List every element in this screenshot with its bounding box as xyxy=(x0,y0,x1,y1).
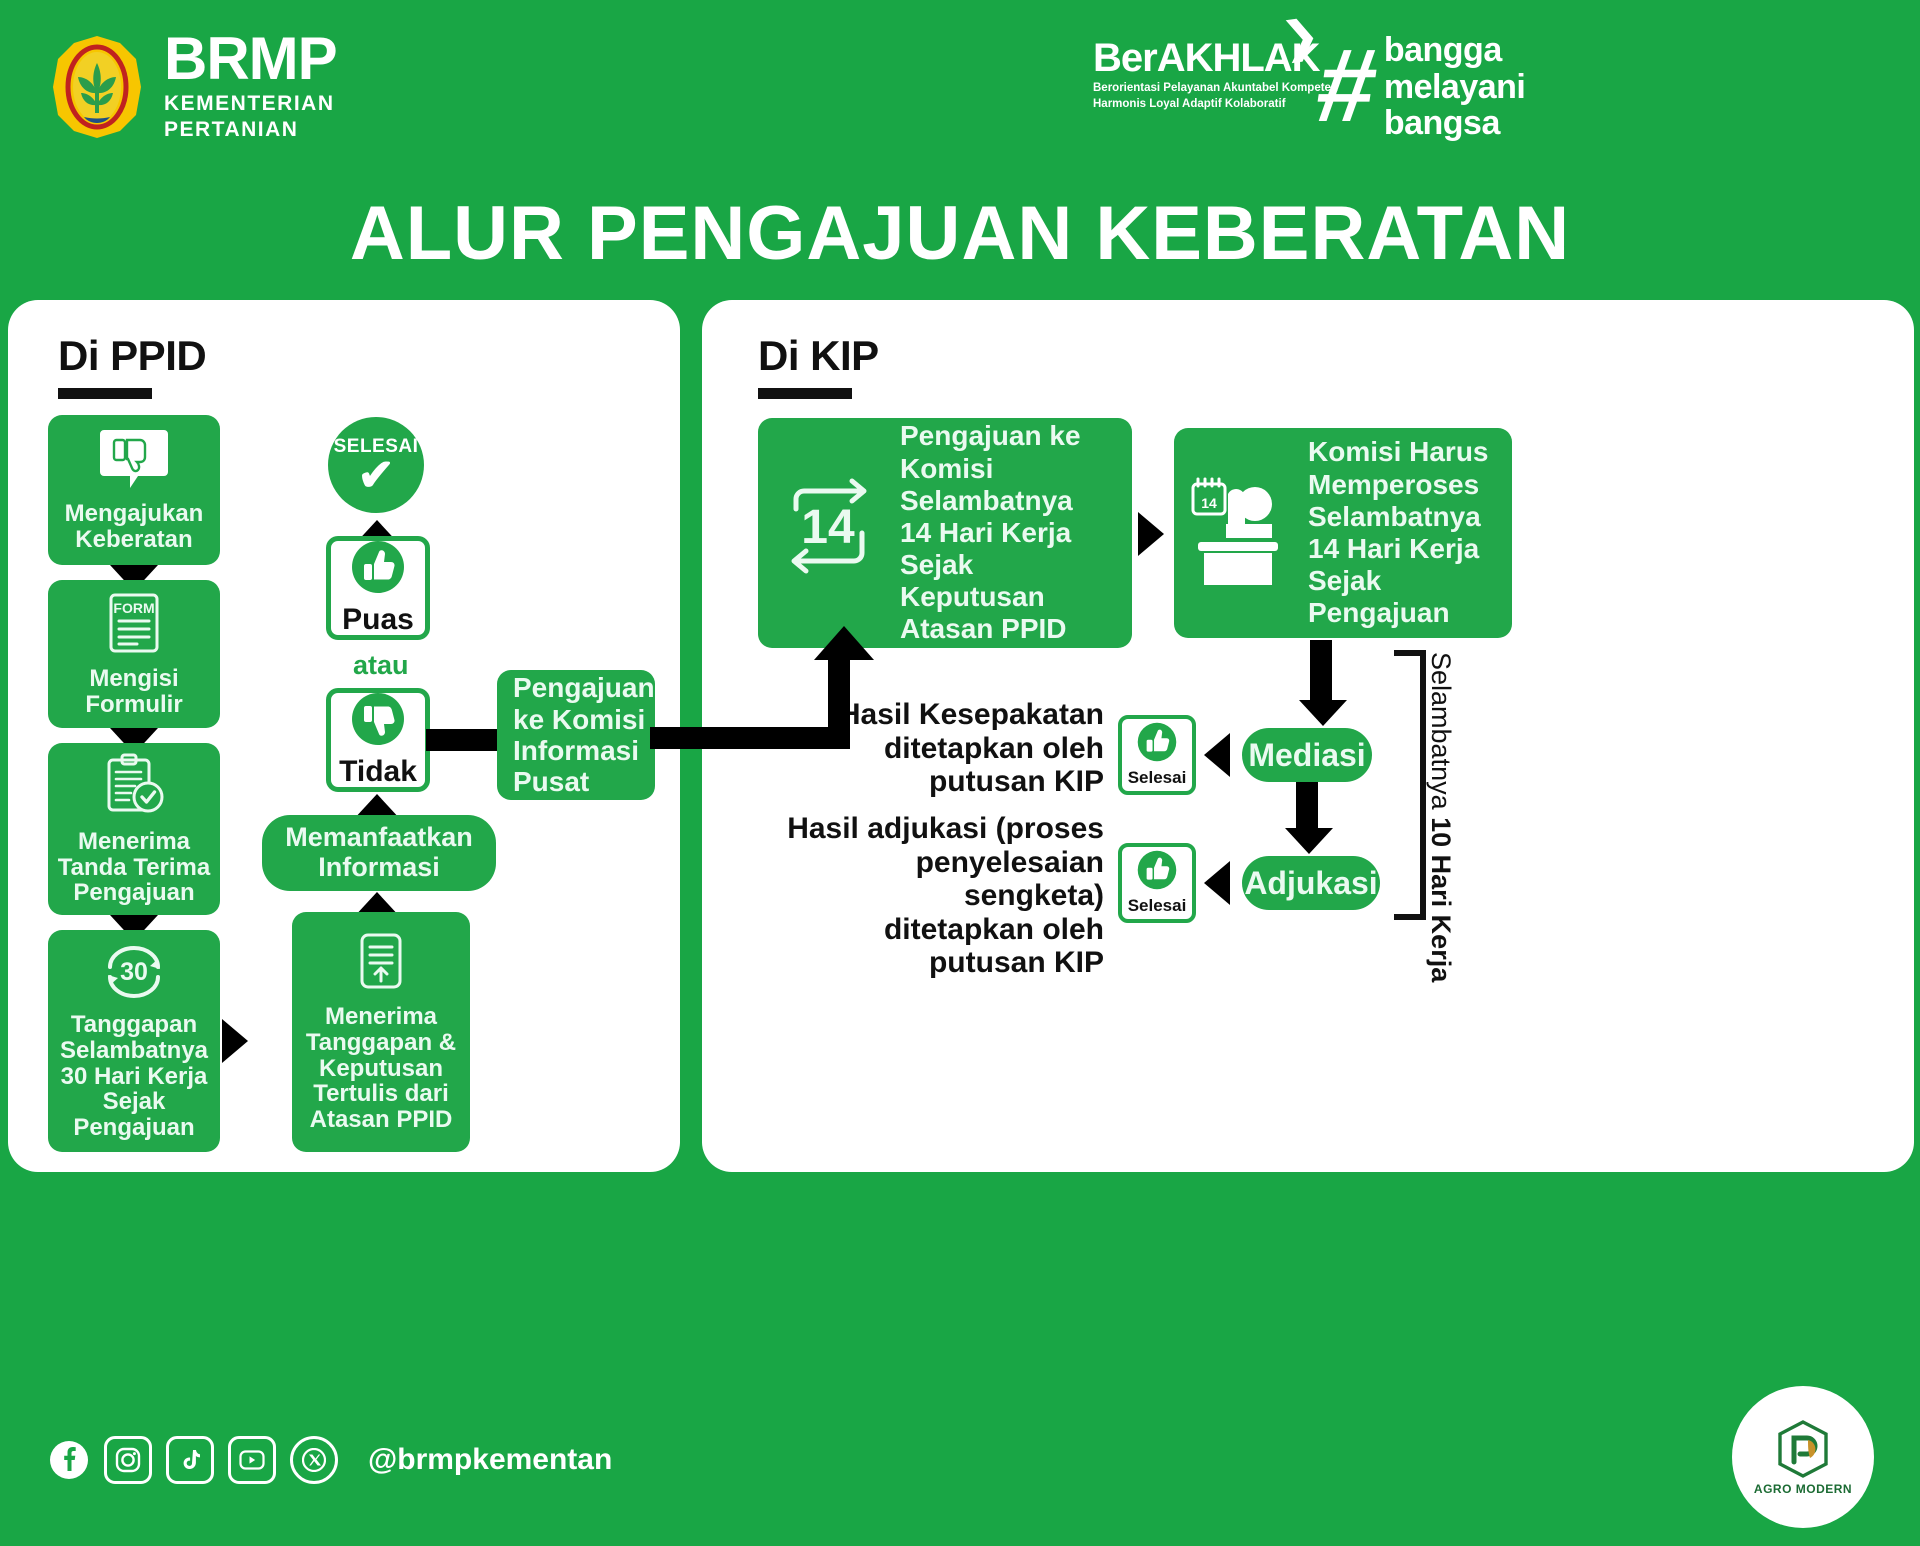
facebook-icon[interactable] xyxy=(48,1439,90,1481)
arrow-down-icon xyxy=(1285,828,1333,854)
bangga-line3: bangsa xyxy=(1384,105,1526,142)
ppid-memanfaatkan-label: MemanfaatkanInformasi xyxy=(285,823,473,882)
instagram-icon[interactable] xyxy=(104,1436,152,1484)
ppid-step-2-label: MengisiFormulir xyxy=(85,666,182,718)
kip-selesai-chip-1-label: Selesai xyxy=(1128,768,1187,788)
kip-box-pengajuan-label: Pengajuan keKomisiSelambatnya14 Hari Ker… xyxy=(900,420,1081,645)
tiktok-icon[interactable] xyxy=(166,1436,214,1484)
agro-modern-label: AGRO MODERN xyxy=(1754,1482,1852,1496)
agro-modern-logo: AGRO MODERN xyxy=(1732,1386,1874,1528)
footer: @brmpkementan AGRO MODERN xyxy=(0,1361,1920,1546)
chevron-right-icon: ❯ xyxy=(1280,14,1320,60)
arrow-right-icon xyxy=(222,1019,248,1063)
thumbs-up-icon xyxy=(1137,722,1177,767)
kip-selesai-chip-mediasi[interactable]: Selesai xyxy=(1118,715,1196,795)
kip-hasil-kesepakatan-text: Hasil Kesepakatanditetapkan olehputusan … xyxy=(812,698,1104,799)
infographic-page: BRMP KEMENTERIAN PERTANIAN BerAKHLAK ❯ B… xyxy=(0,0,1920,1546)
kip-hasil-adjukasi-text: Hasil adjukasi (prosespenyelesaian sengk… xyxy=(772,812,1104,980)
kip-heading: Di KIP xyxy=(758,332,879,399)
kip-selesai-chip-adjukasi[interactable]: Selesai xyxy=(1118,843,1196,923)
connector-komisi-to-mediasi xyxy=(1310,640,1332,702)
svg-text:FORM: FORM xyxy=(113,600,154,616)
svg-text:30: 30 xyxy=(120,958,148,986)
berakhlak-logo: BerAKHLAK ❯ Berorientasi Pelayanan Akunt… xyxy=(1093,38,1303,112)
ppid-step-menerima-tanda-terima[interactable]: MenerimaTanda TerimaPengajuan xyxy=(48,743,220,915)
ppid-heading-text: Di PPID xyxy=(58,332,206,379)
brmp-logo: BRMP KEMENTERIAN PERTANIAN xyxy=(48,30,337,144)
thumbs-down-speech-bubble-icon xyxy=(98,428,170,495)
form-document-icon: FORM xyxy=(105,591,163,660)
arrow-left-icon xyxy=(1204,733,1230,777)
header: BRMP KEMENTERIAN PERTANIAN BerAKHLAK ❯ B… xyxy=(0,0,1920,185)
elbow-arrow-vertical xyxy=(828,650,850,749)
ppid-step-3-label: MenerimaTanda TerimaPengajuan xyxy=(58,829,210,907)
kip-bracket-line2: 10 Hari Kerja xyxy=(1426,817,1456,982)
bangga-melayani-bangsa-logo: # bangga melayani bangsa xyxy=(1318,32,1525,142)
brmp-subtitle: KEMENTERIAN PERTANIAN xyxy=(164,91,337,144)
clipboard-check-icon xyxy=(101,752,167,823)
ppid-selesai-circle: SELESAI ✔ xyxy=(328,417,424,513)
ppid-step-1-label: MengajukanKeberatan xyxy=(65,501,204,553)
elbow-arrow-horizontal xyxy=(650,727,850,749)
kip-adjukasi-pill[interactable]: Adjukasi xyxy=(1242,856,1380,910)
30-day-cycle-icon: 30 xyxy=(99,941,169,1008)
kip-bracket-line1: Selambatnya xyxy=(1426,652,1456,810)
kip-box-pengajuan-14-hari[interactable]: 14 Pengajuan keKomisiSelambatnya14 Hari … xyxy=(758,418,1132,648)
ppid-step-tanggapan-30-hari[interactable]: 30 TanggapanSelambatnya30 Hari KerjaSeja… xyxy=(48,930,220,1152)
bangga-line1: bangga xyxy=(1384,32,1526,69)
elbow-arrow-head-icon xyxy=(814,626,874,660)
ppid-memanfaatkan-informasi[interactable]: MemanfaatkanInformasi xyxy=(262,815,496,891)
kip-duration-bracket xyxy=(1394,650,1426,920)
kip-box-komisi-label: Komisi HarusMemperosesSelambatnya14 Hari… xyxy=(1308,436,1489,629)
person-raising-hand-calendar-icon: 14 xyxy=(1188,466,1298,601)
thumbs-up-icon xyxy=(1137,850,1177,895)
heading-underline xyxy=(758,388,852,399)
connector-mediasi-to-adjukasi xyxy=(1296,782,1318,830)
page-title: ALUR PENGAJUAN KEBERATAN xyxy=(0,190,1920,277)
hashtag-icon: # xyxy=(1312,45,1376,128)
kip-box-komisi-memperoses[interactable]: 14 Komisi HarusMemperosesSelambatnya14 H… xyxy=(1174,428,1512,638)
ppid-option-puas[interactable]: Puas xyxy=(326,536,430,640)
heading-underline xyxy=(58,388,152,399)
social-handle: @brmpkementan xyxy=(368,1443,612,1477)
ppid-atau-label: atau xyxy=(353,650,409,681)
kip-heading-text: Di KIP xyxy=(758,332,879,379)
ppid-menerima-tanggapan-keputusan[interactable]: MenerimaTanggapan &KeputusanTertulis dar… xyxy=(292,912,470,1152)
berakhlak-tagline-line1: Berorientasi Pelayanan Akuntabel Kompete… xyxy=(1093,82,1338,94)
svg-text:14: 14 xyxy=(1201,495,1217,511)
ppid-step-mengajukan-keberatan[interactable]: MengajukanKeberatan xyxy=(48,415,220,565)
ppid-step-4-label: TanggapanSelambatnya30 Hari KerjaSejakPe… xyxy=(60,1012,208,1142)
brmp-wordmark: BRMP KEMENTERIAN PERTANIAN xyxy=(164,30,337,144)
berakhlak-title: BerAKHLAK ❯ xyxy=(1093,38,1303,78)
youtube-icon[interactable] xyxy=(228,1436,276,1484)
arrow-down-icon xyxy=(1299,700,1347,726)
brmp-subtitle-line2: PERTANIAN xyxy=(164,118,298,141)
brmp-title: BRMP xyxy=(164,30,337,87)
document-upload-icon xyxy=(355,931,407,998)
thumbs-down-icon xyxy=(351,692,405,751)
ppid-puas-label: Puas xyxy=(342,603,414,637)
brmp-subtitle-line1: KEMENTERIAN xyxy=(164,92,335,115)
arrow-left-icon xyxy=(1204,861,1230,905)
ppid-step-mengisi-formulir[interactable]: FORM MengisiFormulir xyxy=(48,580,220,728)
ppid-menerima-tanggapan-label: MenerimaTanggapan &KeputusanTertulis dar… xyxy=(306,1004,456,1134)
ppid-option-tidak[interactable]: Tidak xyxy=(326,688,430,792)
kementerian-pertanian-seal-icon xyxy=(48,33,146,141)
agro-leaf-icon xyxy=(1770,1418,1836,1480)
svg-text:14: 14 xyxy=(801,501,855,554)
berakhlak-tagline-line2: Harmonis Loyal Adaptif Kolaboratif xyxy=(1093,98,1286,110)
bangga-line2: melayani xyxy=(1384,69,1526,106)
thumbs-up-icon xyxy=(351,540,405,599)
kip-mediasi-label: Mediasi xyxy=(1248,737,1365,774)
panel-di-ppid: Di PPID MengajukanKeberatan xyxy=(8,300,680,1172)
check-icon: ✔ xyxy=(358,458,395,493)
social-links: @brmpkementan xyxy=(48,1436,612,1484)
berakhlak-tagline: Berorientasi Pelayanan Akuntabel Kompete… xyxy=(1093,81,1303,112)
kip-selesai-chip-2-label: Selesai xyxy=(1128,896,1187,916)
ppid-pengajuan-komisi-informasi-pusat[interactable]: Pengajuanke KomisiInformasiPusat xyxy=(497,670,655,800)
kip-mediasi-pill[interactable]: Mediasi xyxy=(1242,728,1372,782)
ppid-tidak-label: Tidak xyxy=(339,755,417,789)
panel-di-kip: Di KIP 14 Pengajuan keKomisiSelambatnya1… xyxy=(702,300,1914,1172)
arrow-right-icon xyxy=(1138,512,1164,556)
bangga-wordmark: bangga melayani bangsa xyxy=(1384,32,1526,142)
ppid-pengajuan-komisi-label: Pengajuanke KomisiInformasiPusat xyxy=(513,672,655,797)
x-twitter-icon[interactable] xyxy=(290,1436,338,1484)
kip-adjukasi-label: Adjukasi xyxy=(1244,865,1377,902)
kip-bracket-label: Selambatnya 10 Hari Kerja xyxy=(1426,652,1456,918)
ppid-heading: Di PPID xyxy=(58,332,206,399)
14-day-cycle-icon: 14 xyxy=(774,471,884,596)
